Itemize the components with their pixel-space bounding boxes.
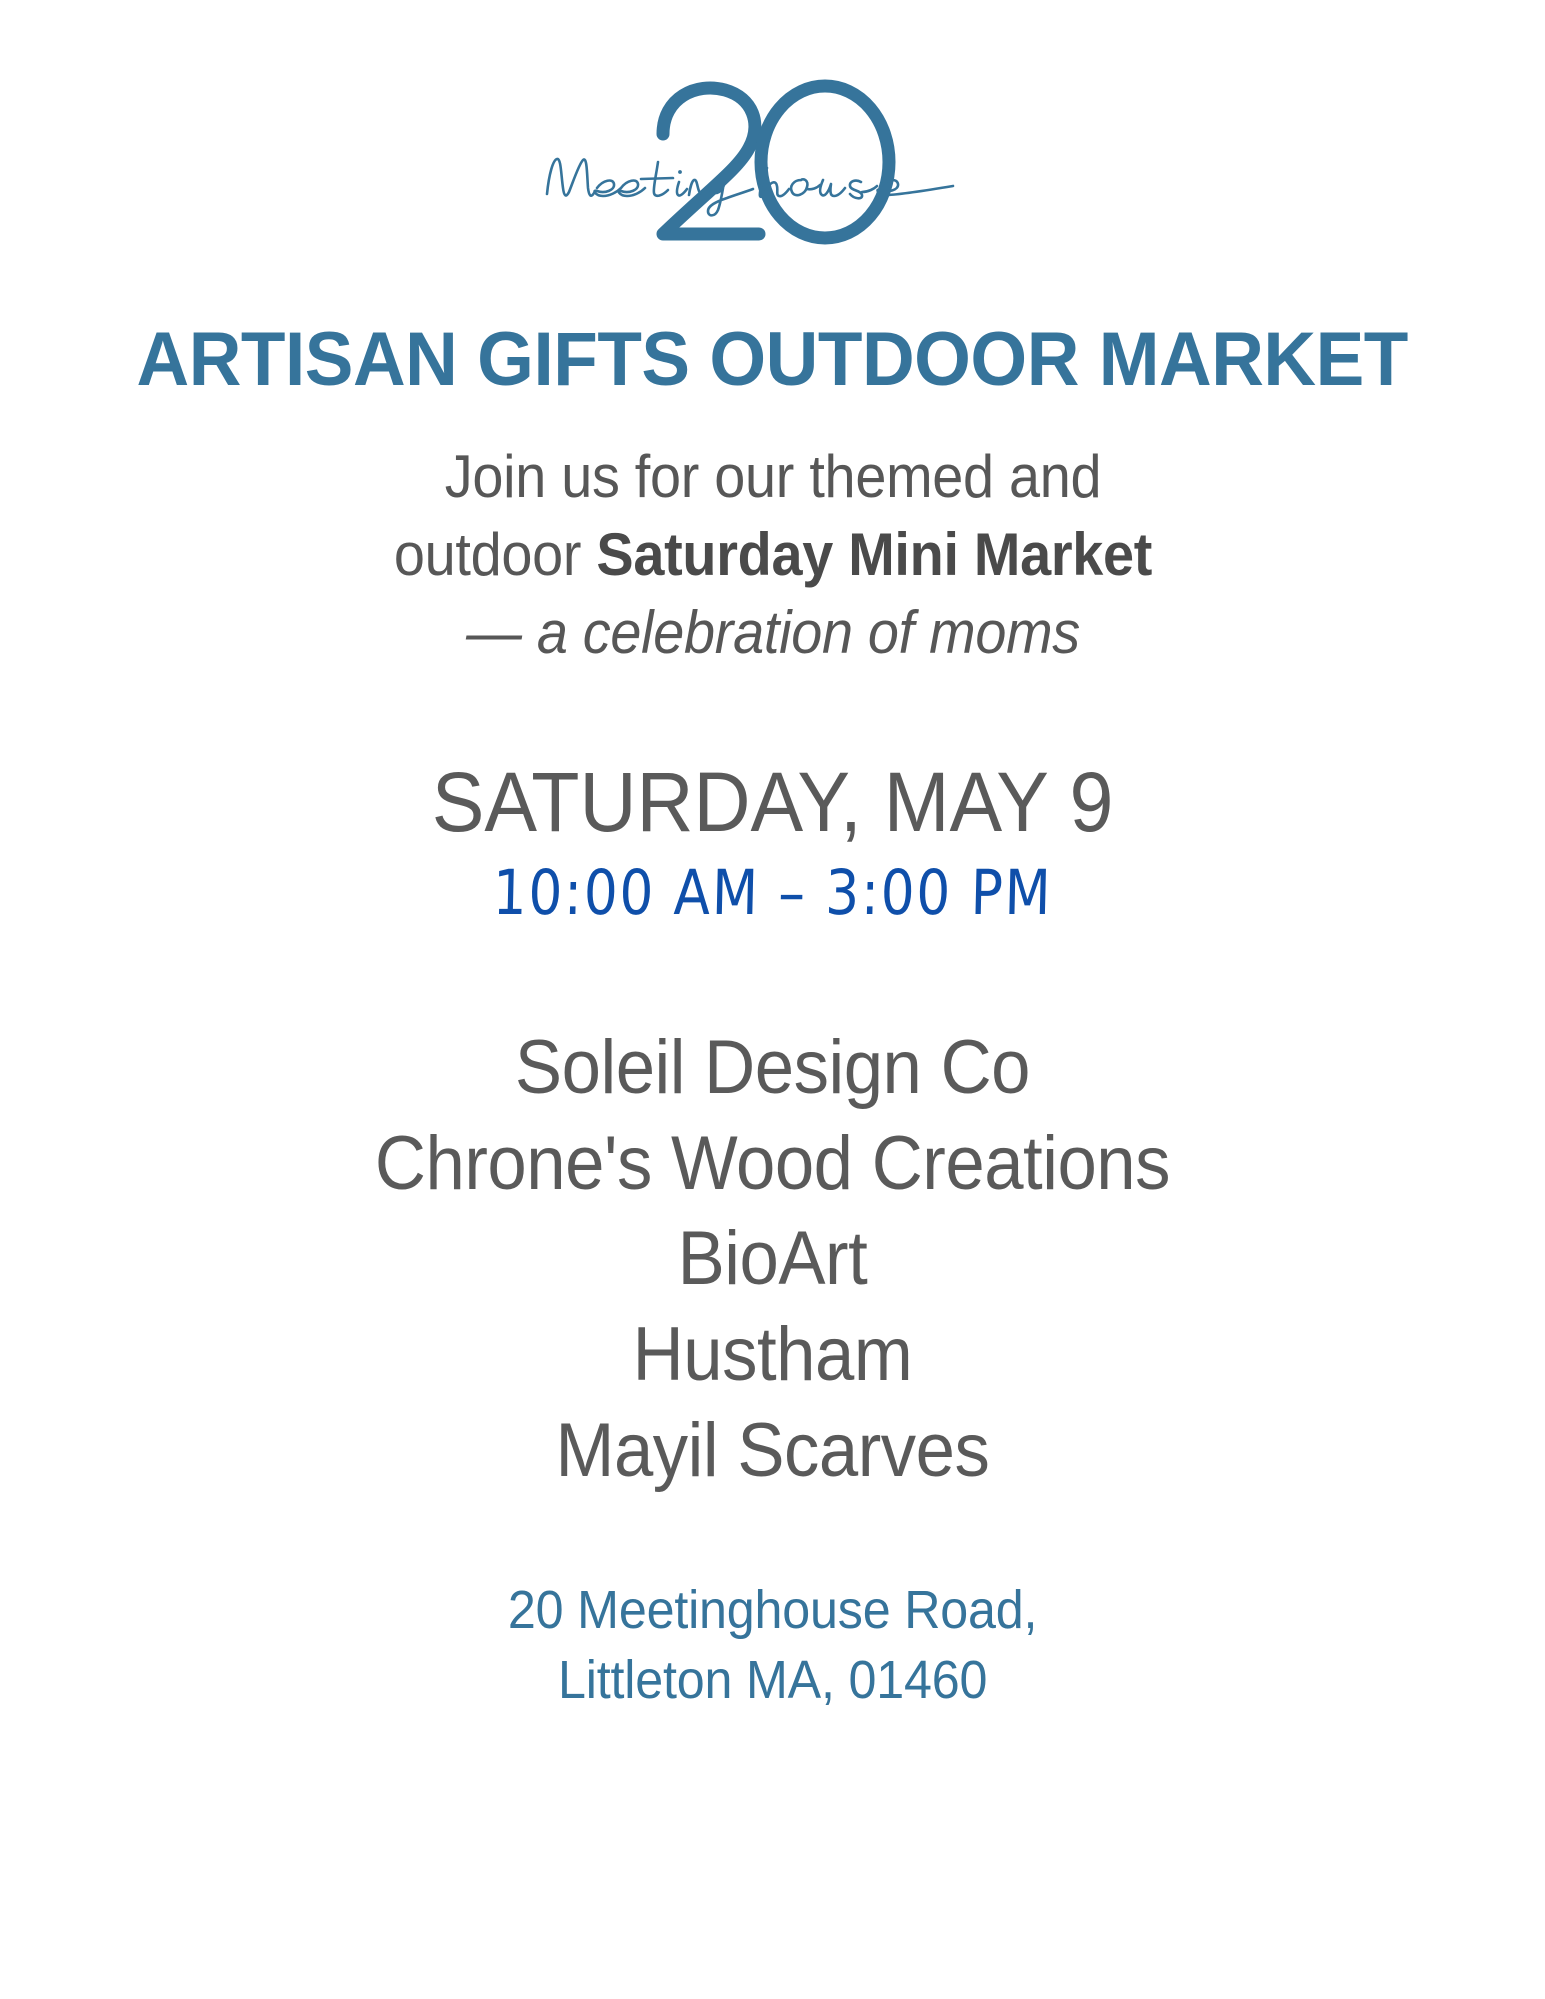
vendor-item: BioArt — [375, 1211, 1170, 1307]
vendor-item: Chrone's Wood Creations — [375, 1116, 1170, 1212]
intro-line-2: outdoor Saturday Mini Market — [252, 516, 1294, 594]
event-time: 10:00 AM – 3:00 PM — [460, 862, 1085, 924]
page-title: ARTISAN GIFTS OUTDOOR MARKET — [137, 320, 1408, 400]
intro-line-2-prefix: outdoor — [393, 521, 596, 588]
vendor-item: Hustham — [375, 1307, 1170, 1403]
intro-line-2-bold: Saturday Mini Market — [596, 521, 1152, 588]
vendor-list: Soleil Design Co Chrone's Wood Creations… — [345, 1020, 1200, 1499]
address-line-1: 20 Meetinghouse Road, — [508, 1575, 1037, 1645]
vendor-item: Soleil Design Co — [375, 1020, 1170, 1116]
intro-line-3: — a celebration of moms — [252, 594, 1294, 672]
intro-paragraph: Join us for our themed and outdoor Satur… — [252, 438, 1294, 672]
intro-line-1: Join us for our themed and — [252, 438, 1294, 516]
event-datetime: SATURDAY, MAY 9 10:00 AM – 3:00 PM — [410, 760, 1135, 924]
event-flyer: ARTISAN GIFTS OUTDOOR MARKET Join us for… — [0, 0, 1545, 1999]
meetinghouse-20-logo-icon — [513, 62, 1033, 272]
vendor-item: Mayil Scarves — [375, 1403, 1170, 1499]
address-line-2: Littleton MA, 01460 — [508, 1645, 1037, 1715]
brand-logo — [513, 62, 1033, 272]
event-date: SATURDAY, MAY 9 — [432, 760, 1114, 844]
venue-address: 20 Meetinghouse Road, Littleton MA, 0146… — [508, 1575, 1037, 1715]
